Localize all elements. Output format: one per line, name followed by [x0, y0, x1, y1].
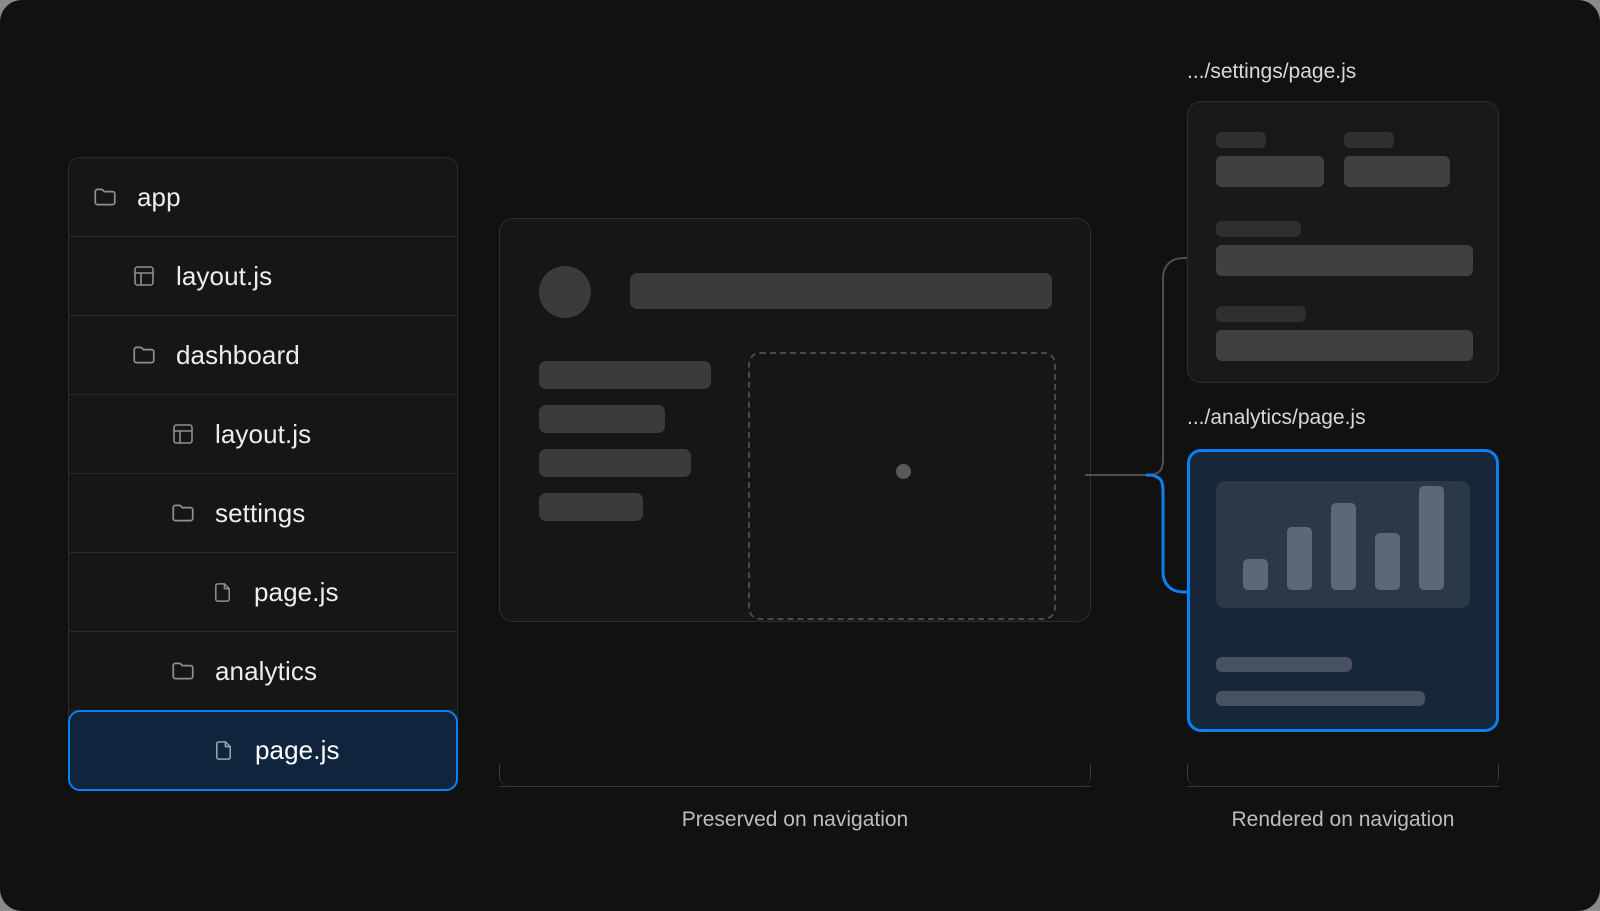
right-caption: Rendered on navigation: [1187, 808, 1499, 832]
header-skeleton-bar: [630, 273, 1052, 309]
layout-icon: [170, 421, 196, 447]
file-icon: [210, 738, 236, 764]
form-input-skeleton: [1216, 330, 1473, 361]
file-tree: app layout.js dashboard: [68, 157, 458, 791]
sidebar-skeleton-bar: [539, 449, 691, 477]
tree-item-label: layout.js: [215, 419, 311, 450]
avatar: [539, 266, 591, 318]
tree-item-dashboard-layout[interactable]: layout.js: [69, 395, 457, 474]
analytics-preview-card: [1187, 449, 1499, 732]
bar-chart-bars: [1216, 481, 1470, 608]
sidebar-skeleton-bar: [539, 361, 711, 389]
form-input-skeleton: [1216, 156, 1324, 187]
diagram-root: app layout.js dashboard: [0, 0, 1600, 911]
analytics-text-skeleton: [1216, 657, 1352, 672]
tree-item-label: page.js: [255, 735, 340, 766]
bar: [1419, 486, 1444, 590]
tree-item-app-layout[interactable]: layout.js: [69, 237, 457, 316]
center-bracket: [499, 764, 1091, 786]
folder-icon: [170, 500, 196, 526]
bar: [1375, 533, 1400, 590]
right-bracket: [1187, 764, 1499, 786]
file-icon: [209, 579, 235, 605]
tree-item-label: page.js: [254, 577, 339, 608]
tree-item-label: settings: [215, 498, 305, 529]
form-label-skeleton: [1344, 132, 1394, 148]
bar: [1243, 559, 1268, 590]
tree-item-analytics[interactable]: analytics: [69, 632, 457, 711]
layout-preview-card: [499, 218, 1091, 622]
folder-icon: [131, 342, 157, 368]
form-input-skeleton: [1216, 245, 1473, 276]
folder-icon: [92, 184, 118, 210]
center-caption: Preserved on navigation: [499, 808, 1091, 832]
bar: [1287, 527, 1312, 590]
form-label-skeleton: [1216, 221, 1301, 237]
sidebar-skeleton-bar: [539, 493, 643, 521]
tree-item-settings[interactable]: settings: [69, 474, 457, 553]
settings-preview-card: [1187, 101, 1499, 383]
bar-chart: [1216, 481, 1470, 608]
sidebar-skeleton-bar: [539, 405, 665, 433]
layout-icon: [131, 263, 157, 289]
tree-item-label: dashboard: [176, 340, 300, 371]
tree-item-label: app: [137, 182, 181, 213]
tree-item-settings-page[interactable]: page.js: [69, 553, 457, 632]
folder-icon: [170, 658, 196, 684]
tree-item-app[interactable]: app: [69, 158, 457, 237]
form-label-skeleton: [1216, 132, 1266, 148]
settings-panel-label: .../settings/page.js: [1187, 60, 1356, 84]
bar: [1331, 503, 1356, 590]
form-label-skeleton: [1216, 306, 1306, 322]
analytics-panel-label: .../analytics/page.js: [1187, 406, 1366, 430]
tree-item-label: analytics: [215, 656, 317, 687]
analytics-text-skeleton: [1216, 691, 1425, 706]
tree-item-label: layout.js: [176, 261, 272, 292]
connector-dot: [896, 464, 911, 479]
form-input-skeleton: [1344, 156, 1450, 187]
children-slot-placeholder: [748, 352, 1056, 620]
tree-item-dashboard[interactable]: dashboard: [69, 316, 457, 395]
tree-item-analytics-page-selected[interactable]: page.js: [68, 710, 458, 791]
